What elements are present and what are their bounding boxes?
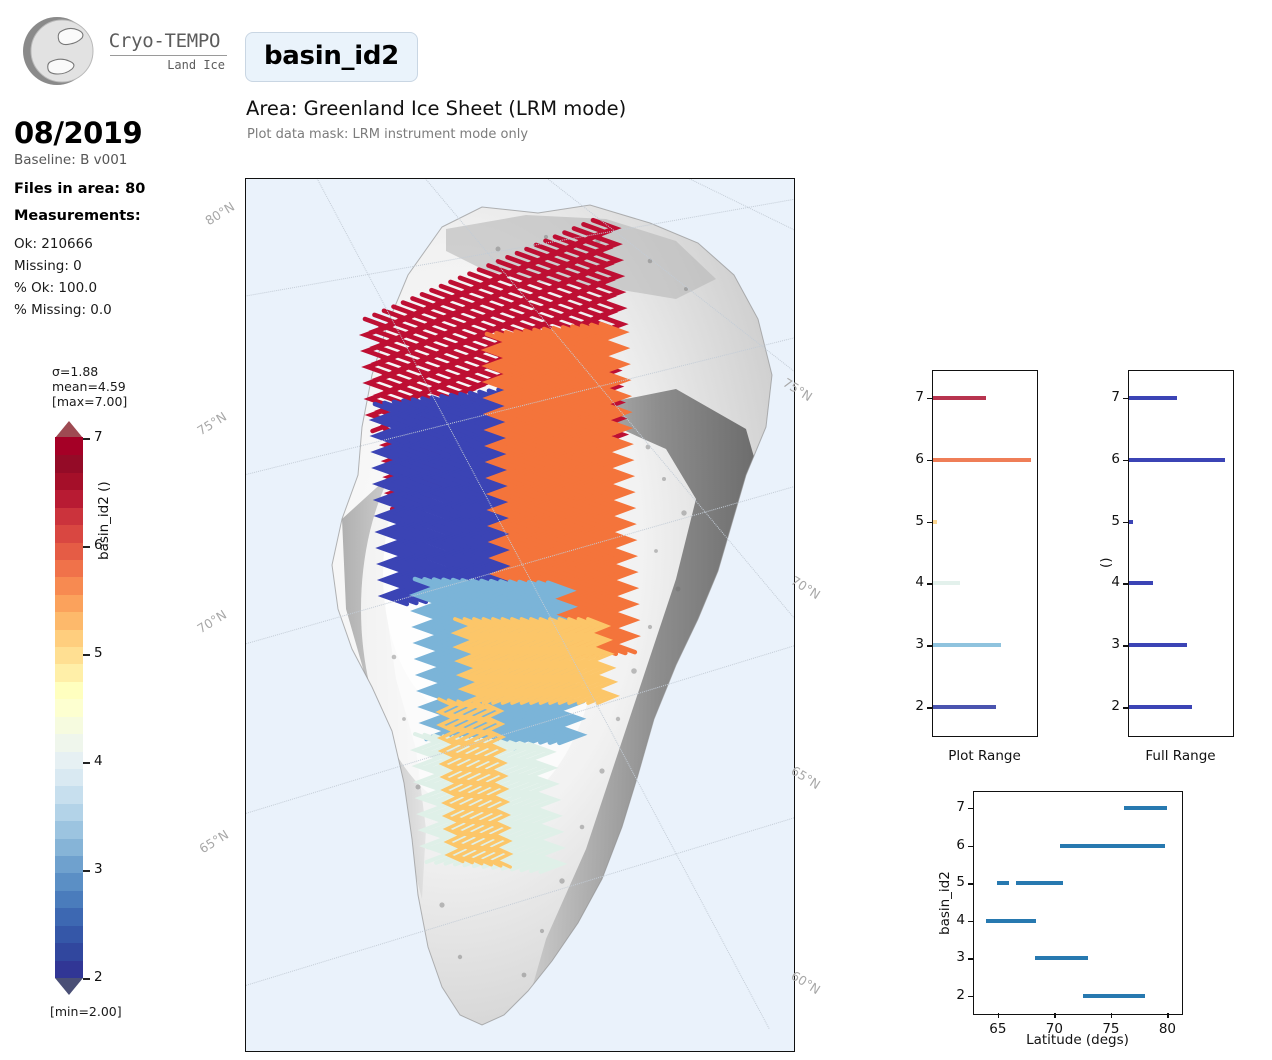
colorbar-axis-label: basin_id2 () — [96, 481, 112, 560]
hist-ytick — [927, 645, 932, 646]
colorbar-band — [55, 455, 83, 473]
scatter-ytick-label: 7 — [939, 799, 965, 815]
colorbar-band — [55, 612, 83, 630]
hist-ytick-label: 2 — [1094, 698, 1120, 714]
hist-ytick — [927, 522, 932, 523]
hist-ytick-label: 6 — [1094, 451, 1120, 467]
colorbar-band — [55, 751, 83, 769]
scatter-segment — [1083, 994, 1145, 998]
colorbar-band — [55, 681, 83, 699]
scatter-xlabel: Latitude (degs) — [975, 1032, 1180, 1048]
colorbar-band — [55, 786, 83, 804]
colorbar-tick-label: 3 — [94, 861, 103, 877]
colorbar-band — [55, 925, 83, 943]
colorbar-band — [55, 472, 83, 490]
scatter-segment — [1124, 806, 1167, 810]
colorbar-band — [55, 960, 83, 978]
colorbar-band — [55, 629, 83, 647]
hist-ytick — [927, 460, 932, 461]
hist-bar — [933, 581, 960, 585]
hist-ytick — [1123, 645, 1128, 646]
scatter-segment — [986, 919, 1036, 923]
colorbar-extend-bottom — [55, 978, 83, 995]
colorbar-tick-label: 4 — [94, 753, 103, 769]
scatter-ytick — [968, 996, 973, 997]
hist-ytick — [927, 707, 932, 708]
colorbar-stats: σ=1.88 mean=4.59 [max=7.00] — [52, 364, 127, 409]
area-title: Area: Greenland Ice Sheet (LRM mode) — [246, 97, 626, 120]
measurement-pct-ok: % Ok: 100.0 — [14, 280, 97, 296]
colorbar-band — [55, 821, 83, 839]
colorbar-band — [55, 577, 83, 595]
colorbar-tick — [83, 870, 90, 872]
latitude-scatter-panel[interactable] — [973, 791, 1183, 1015]
scatter-segment — [1035, 956, 1088, 960]
colorbar-band — [55, 803, 83, 821]
scatter-ytick — [968, 846, 973, 847]
brand-line-1: Cryo-TEMPO — [102, 30, 227, 52]
scatter-segment — [997, 881, 1063, 885]
hist-ytick — [1123, 583, 1128, 584]
hist-bar — [1129, 396, 1177, 400]
page-title-badge: basin_id2 — [245, 32, 418, 82]
colorbar-band — [55, 943, 83, 961]
hist-ytick-label: 5 — [898, 513, 924, 529]
hist-bar — [1129, 581, 1153, 585]
brand-text: Cryo-TEMPO Land Ice — [102, 30, 227, 72]
colorbar-gradient — [55, 438, 83, 978]
scatter-ytick — [968, 958, 973, 959]
colorbar-band — [55, 734, 83, 752]
colorbar-band — [55, 490, 83, 508]
colorbar-tick — [83, 438, 90, 440]
brand-divider — [110, 55, 227, 56]
colorbar-band — [55, 716, 83, 734]
scatter-segment — [1060, 844, 1165, 848]
scatter-ytick-label: 2 — [939, 987, 965, 1003]
colorbar-band — [55, 594, 83, 612]
hist-ytick — [927, 583, 932, 584]
hist-bar — [1129, 458, 1225, 462]
full-range-ylabel: () — [1098, 557, 1114, 568]
scatter-ytick — [968, 883, 973, 884]
hist-bar — [1129, 643, 1187, 647]
hist-ytick — [1123, 398, 1128, 399]
hist-ytick-label: 2 — [898, 698, 924, 714]
colorbar-band — [55, 437, 83, 455]
scatter-ytick — [968, 921, 973, 922]
colorbar-band — [55, 664, 83, 682]
hist-bar — [933, 643, 1001, 647]
colorbar-min: [min=2.00] — [50, 1004, 122, 1019]
scatter-ytick — [968, 808, 973, 809]
colorbar-tick — [83, 762, 90, 764]
plot-range-caption: Plot Range — [912, 748, 1057, 764]
scatter-xtick — [998, 1013, 999, 1018]
mask-subtitle: Plot data mask: LRM instrument mode only — [247, 127, 528, 142]
scatter-xtick — [1167, 1013, 1168, 1018]
colorbar-extend-top — [55, 421, 83, 438]
logo: Cryo-TEMPO Land Ice — [14, 12, 229, 90]
scatter-ytick-label: 3 — [939, 949, 965, 965]
hist-bar — [1129, 520, 1133, 524]
hist-ytick-label: 7 — [898, 389, 924, 405]
colorbar-band — [55, 646, 83, 664]
hist-ytick-label: 3 — [898, 636, 924, 652]
hist-ytick — [1123, 460, 1128, 461]
baseline-label: Baseline: B v001 — [14, 152, 127, 168]
colorbar-tick-label: 5 — [94, 645, 103, 661]
sidebar: Cryo-TEMPO Land Ice 08/2019 Baseline: B … — [0, 0, 240, 1060]
colorbar-band — [55, 838, 83, 856]
scatter-xtick — [1054, 1013, 1055, 1018]
colorbar-max: [max=7.00] — [52, 394, 127, 409]
colorbar-band — [55, 855, 83, 873]
scatter-ytick-label: 6 — [939, 837, 965, 853]
hist-ytick — [927, 398, 932, 399]
colorbar-band — [55, 768, 83, 786]
hist-bar — [933, 458, 1031, 462]
scatter-xtick — [1111, 1013, 1112, 1018]
map-panel[interactable]: km 400.0 — [245, 178, 795, 1052]
hist-bar — [933, 705, 996, 709]
colorbar-sigma: σ=1.88 — [52, 364, 127, 379]
brand-line-2: Land Ice — [102, 58, 227, 72]
colorbar-tick — [83, 978, 90, 980]
hist-ytick-label: 7 — [1094, 389, 1120, 405]
colorbar-tick — [83, 654, 90, 656]
colorbar-band — [55, 507, 83, 525]
hist-bar — [1129, 705, 1192, 709]
files-in-area-label: Files in area: 80 — [14, 181, 145, 197]
colorbar-tick-label: 2 — [94, 969, 103, 985]
measurement-ok: Ok: 210666 — [14, 236, 93, 252]
measurement-missing: Missing: 0 — [14, 258, 82, 274]
colorbar-band — [55, 525, 83, 543]
colorbar-tick — [83, 546, 90, 548]
hist-bar — [933, 396, 986, 400]
colorbar-band — [55, 890, 83, 908]
full-range-panel[interactable] — [1128, 370, 1234, 737]
hist-ytick-label: 4 — [1094, 574, 1120, 590]
colorbar-band — [55, 873, 83, 891]
colorbar-band — [55, 908, 83, 926]
colorbar-tick-label: 7 — [94, 429, 103, 445]
colorbar-band — [55, 699, 83, 717]
date-label: 08/2019 — [14, 116, 142, 150]
hist-ytick — [1123, 522, 1128, 523]
hist-ytick-label: 4 — [898, 574, 924, 590]
globe-icon — [20, 14, 94, 88]
measurements-heading: Measurements: — [14, 208, 141, 224]
hist-bar — [933, 520, 937, 524]
measurement-pct-missing: % Missing: 0.0 — [14, 302, 112, 318]
colorbar-band — [55, 542, 83, 560]
scatter-ylabel: basin_id2 — [937, 871, 953, 935]
scatter-point — [1016, 881, 1020, 885]
hist-ytick-label: 3 — [1094, 636, 1120, 652]
hist-ytick-label: 6 — [898, 451, 924, 467]
hist-ytick-label: 5 — [1094, 513, 1120, 529]
plot-range-panel[interactable] — [932, 370, 1038, 737]
colorbar-mean: mean=4.59 — [52, 379, 127, 394]
full-range-caption: Full Range — [1108, 748, 1253, 764]
colorbar-band — [55, 559, 83, 577]
hist-ytick — [1123, 707, 1128, 708]
